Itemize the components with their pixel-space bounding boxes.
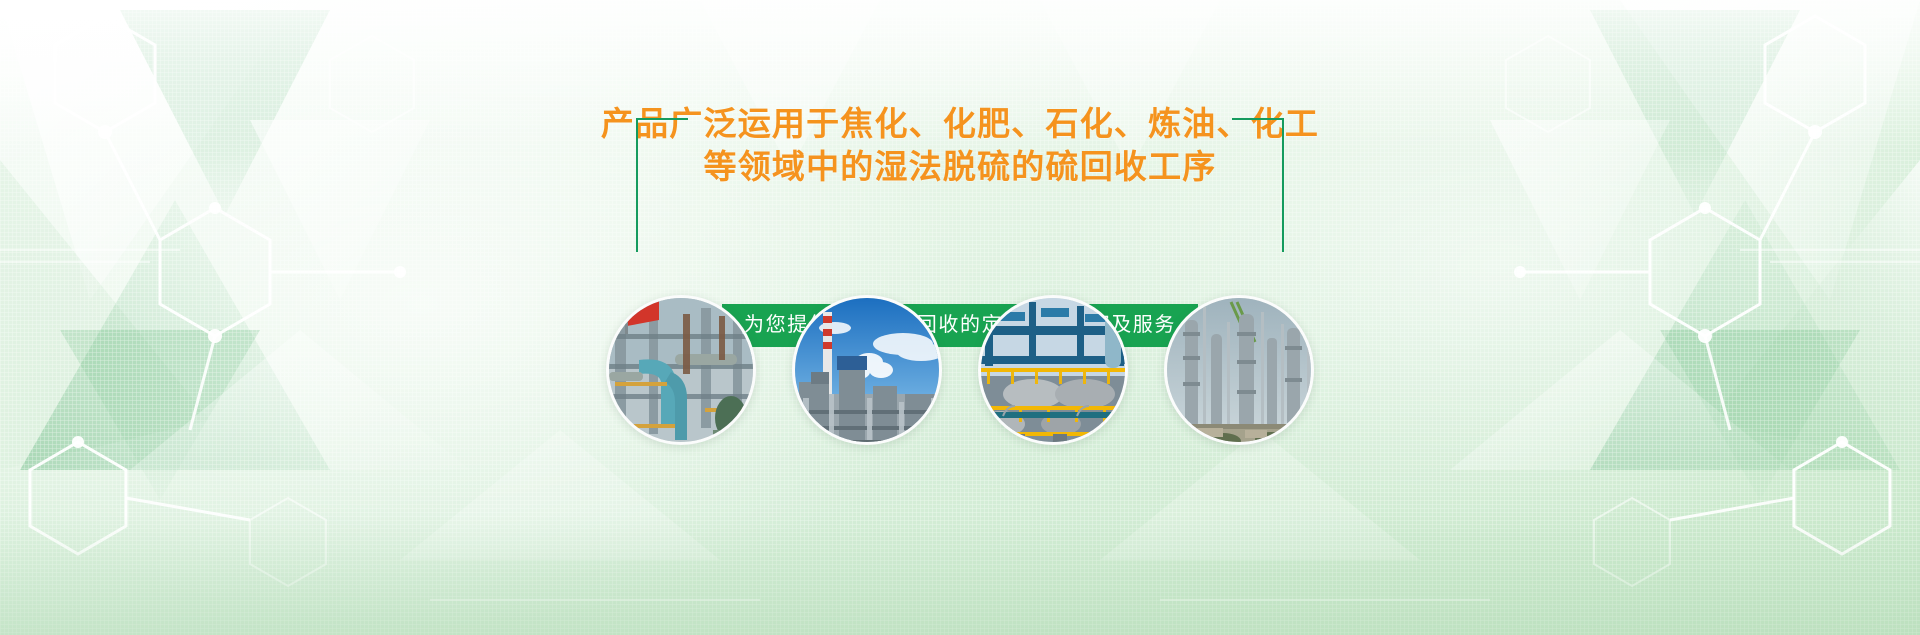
photo-refinery-piping[interactable] xyxy=(606,295,756,445)
photo-horizontal-vessels[interactable] xyxy=(978,295,1128,445)
bracket-top-right-rail xyxy=(1232,118,1284,120)
bracket-right-side xyxy=(1282,118,1284,252)
headline-block: 产品广泛运用于焦化、化肥、石化、炼油、化工 等领域中的湿法脱硫的硫回收工序 为您… xyxy=(0,104,1920,192)
headline-line-1: 产品广泛运用于焦化、化肥、石化、炼油、化工 xyxy=(601,104,1319,143)
distillation-towers-photo xyxy=(1167,298,1314,445)
promo-banner: 产品广泛运用于焦化、化肥、石化、炼油、化工 等领域中的湿法脱硫的硫回收工序 为您… xyxy=(0,0,1920,635)
refinery-piping-photo xyxy=(609,298,756,445)
bracket-frame: 产品广泛运用于焦化、化肥、石化、炼油、化工 等领域中的湿法脱硫的硫回收工序 xyxy=(636,104,1284,192)
bracket-left-side xyxy=(636,118,638,252)
headline-text: 产品广泛运用于焦化、化肥、石化、炼油、化工 等领域中的湿法脱硫的硫回收工序 xyxy=(601,104,1319,186)
bottom-fade xyxy=(0,515,1920,635)
photo-stack-plant[interactable] xyxy=(792,295,942,445)
photo-strip xyxy=(0,295,1920,445)
horizontal-vessels-photo xyxy=(981,298,1128,445)
headline-line-2: 等领域中的湿法脱硫的硫回收工序 xyxy=(601,147,1319,186)
bracket-top-left-rail xyxy=(636,118,688,120)
photo-distillation-towers[interactable] xyxy=(1164,295,1314,445)
stack-plant-photo xyxy=(795,298,942,445)
